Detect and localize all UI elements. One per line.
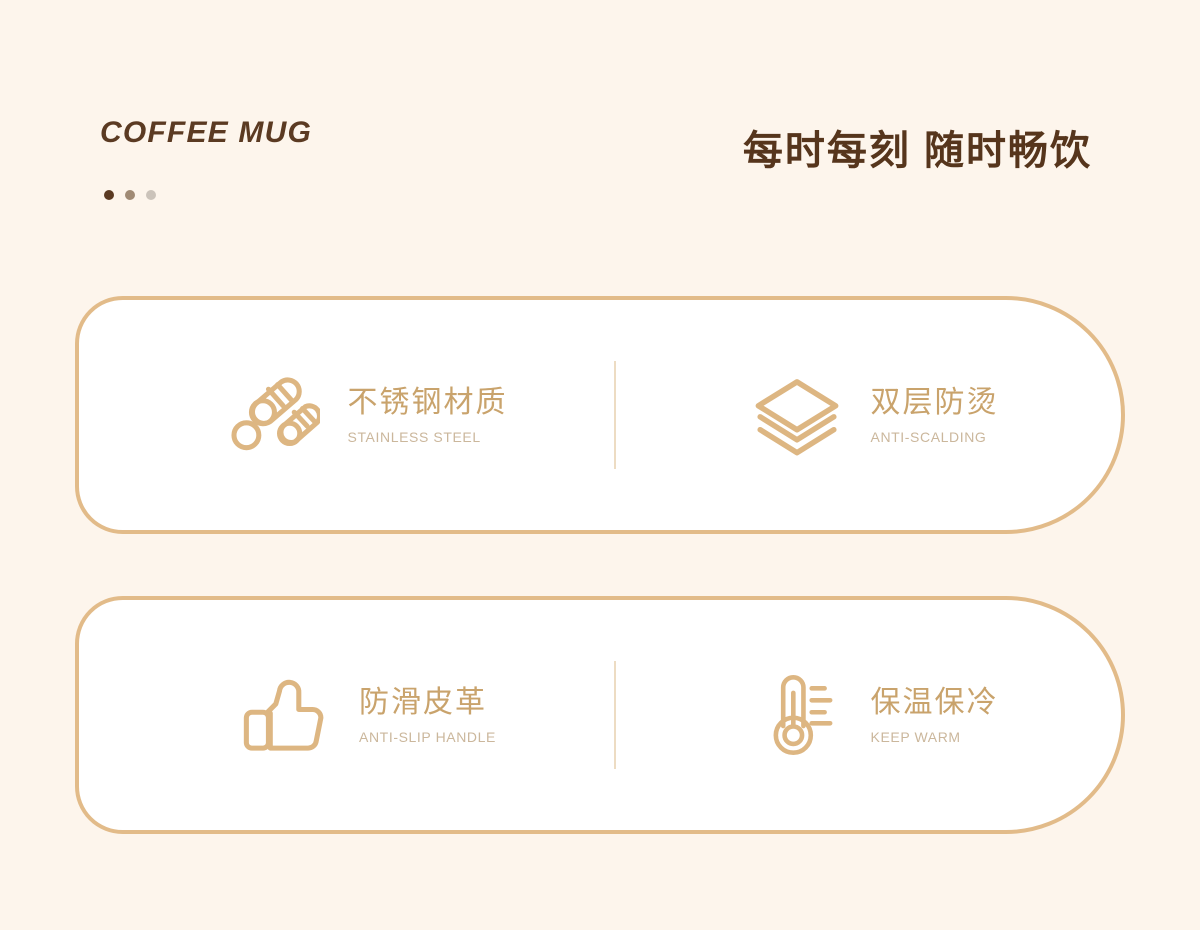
feature-subtitle: ANTI-SCALDING xyxy=(871,430,987,445)
feature-title: 不锈钢材质 xyxy=(348,385,508,420)
carousel-dot-3[interactable] xyxy=(146,190,156,200)
feature-subtitle: ANTI-SLIP HANDLE xyxy=(359,730,496,745)
feature-keep-warm: 保温保冷 KEEP WARM xyxy=(616,600,1121,830)
thermometer-icon xyxy=(749,667,845,763)
brand-block: COFFEE MUG xyxy=(100,118,312,200)
feature-card-handling: 防滑皮革 ANTI-SLIP HANDLE xyxy=(75,596,1125,834)
thumbs-up-icon xyxy=(237,667,333,763)
feature-anti-slip-handle: 防滑皮革 ANTI-SLIP HANDLE xyxy=(79,600,614,830)
feature-subtitle: STAINLESS STEEL xyxy=(348,430,481,445)
feature-title: 双层防烫 xyxy=(871,385,999,420)
feature-subtitle: KEEP WARM xyxy=(871,730,961,745)
product-feature-page: COFFEE MUG 每时每刻 随时畅饮 xyxy=(0,0,1200,930)
feature-stainless-steel: 不锈钢材质 STAINLESS STEEL xyxy=(79,300,614,530)
layers-icon xyxy=(749,367,845,463)
carousel-dot-1[interactable] xyxy=(104,190,114,200)
feature-anti-scalding: 双层防烫 ANTI-SCALDING xyxy=(616,300,1121,530)
page-title: COFFEE MUG xyxy=(100,118,312,148)
feature-text-block: 防滑皮革 ANTI-SLIP HANDLE xyxy=(359,685,496,745)
feature-title: 防滑皮革 xyxy=(359,685,487,720)
carousel-dot-2[interactable] xyxy=(125,190,135,200)
feature-text-block: 双层防烫 ANTI-SCALDING xyxy=(871,385,999,445)
page-header: COFFEE MUG 每时每刻 随时畅饮 xyxy=(0,0,1200,280)
feature-text-block: 不锈钢材质 STAINLESS STEEL xyxy=(348,385,508,445)
feature-text-block: 保温保冷 KEEP WARM xyxy=(871,685,999,745)
carousel-dots[interactable] xyxy=(100,190,312,200)
headline-slogan: 每时每刻 随时畅饮 xyxy=(743,129,1092,173)
feature-card-materials: 不锈钢材质 STAINLESS STEEL 双层防烫 ANTI-SCALDING xyxy=(75,296,1125,534)
feature-title: 保温保冷 xyxy=(871,685,999,720)
steel-pipes-icon xyxy=(226,367,322,463)
